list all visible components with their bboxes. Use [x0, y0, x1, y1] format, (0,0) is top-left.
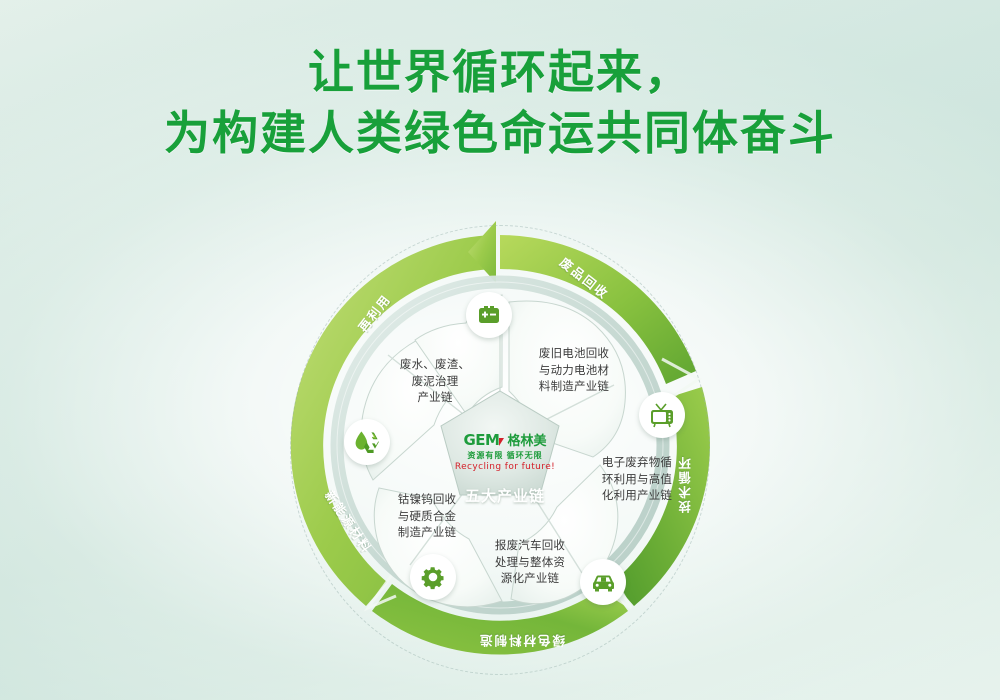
logo-flag-icon: [499, 438, 504, 446]
segment-battery-line3: 料制造产业链: [508, 379, 640, 396]
icon-bubble-water-recycle[interactable]: [344, 419, 390, 465]
logo-latin-text: GEM: [463, 431, 499, 449]
segment-water-line3: 产业链: [374, 390, 496, 407]
icon-bubble-gear[interactable]: [410, 554, 456, 600]
segment-ewaste-line2: 环利用与高值: [585, 472, 689, 489]
logo-slogan: 资源有限 循环无限: [452, 450, 558, 461]
segment-ewaste-line1: 电子废弃物循: [585, 455, 689, 472]
logo-chinese-text: 格林美: [507, 430, 546, 449]
logo-wordmark-row: GEM 格林美: [452, 430, 558, 449]
icon-bubble-battery[interactable]: [466, 292, 512, 338]
segment-label-ewaste: 电子废弃物循 环利用与高值 化利用产业链: [585, 455, 689, 505]
icon-bubble-television[interactable]: [639, 392, 685, 438]
battery-icon: [476, 302, 502, 328]
page-title: 让世界循环起来， 为构建人类绿色命运共同体奋斗: [0, 42, 1000, 163]
logo-slogan-english: Recycling for future!: [452, 462, 558, 472]
car-icon: [590, 569, 617, 596]
gem-logo: GEM 格林美 资源有限 循环无限 Recycling for future!: [452, 430, 558, 472]
segment-label-water: 废水、废渣、 废泥治理 产业链: [374, 357, 496, 407]
segment-auto-line1: 报废汽车回收: [472, 538, 588, 555]
gear-icon: [420, 564, 446, 590]
segment-label-battery: 废旧电池回收 与动力电池材 料制造产业链: [508, 346, 640, 396]
segment-cobalt-line2: 与硬质合金: [371, 509, 483, 526]
title-line-2: 为构建人类绿色命运共同体奋斗: [0, 103, 1000, 164]
ring-label-green-manufacture: 绿色材料制造: [478, 632, 565, 651]
segment-auto-line3: 源化产业链: [472, 571, 588, 588]
segment-battery-line1: 废旧电池回收: [508, 346, 640, 363]
center-caption: 五大产业链: [452, 485, 558, 506]
segment-water-line2: 废泥治理: [374, 374, 496, 391]
segment-battery-line2: 与动力电池材: [508, 363, 640, 380]
television-icon: [649, 402, 675, 428]
segment-cobalt-line3: 制造产业链: [371, 525, 483, 542]
segment-ewaste-line3: 化利用产业链: [585, 488, 689, 505]
title-line-1: 让世界循环起来，: [0, 42, 1000, 103]
water-recycle-icon: [353, 428, 381, 456]
segment-auto-line2: 处理与整体资: [472, 555, 588, 572]
segment-label-auto: 报废汽车回收 处理与整体资 源化产业链: [472, 538, 588, 588]
icon-bubble-car[interactable]: [580, 559, 626, 605]
segment-water-line1: 废水、废渣、: [374, 357, 496, 374]
